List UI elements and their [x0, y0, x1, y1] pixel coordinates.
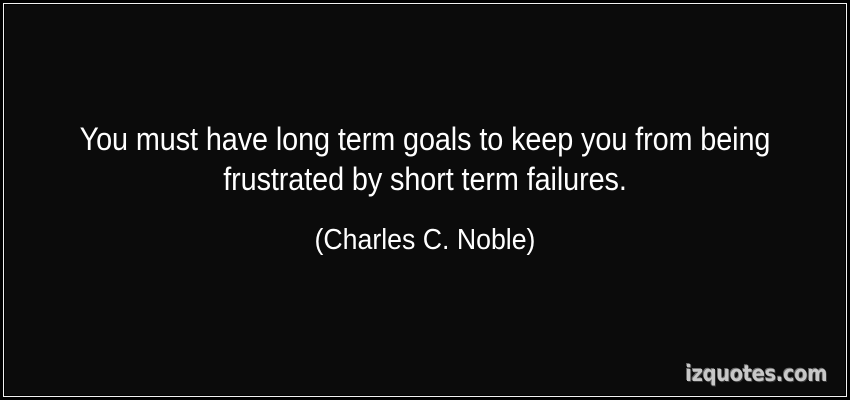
card-panel — [5, 5, 845, 395]
quote-card: You must have long term goals to keep yo… — [0, 0, 850, 400]
site-watermark: izquotes.com — [685, 364, 827, 386]
quote-block: You must have long term goals to keep yo… — [0, 119, 850, 199]
quote-attribution: (Charles C. Noble) — [34, 222, 816, 258]
quote-text: You must have long term goals to keep yo… — [57, 119, 793, 199]
